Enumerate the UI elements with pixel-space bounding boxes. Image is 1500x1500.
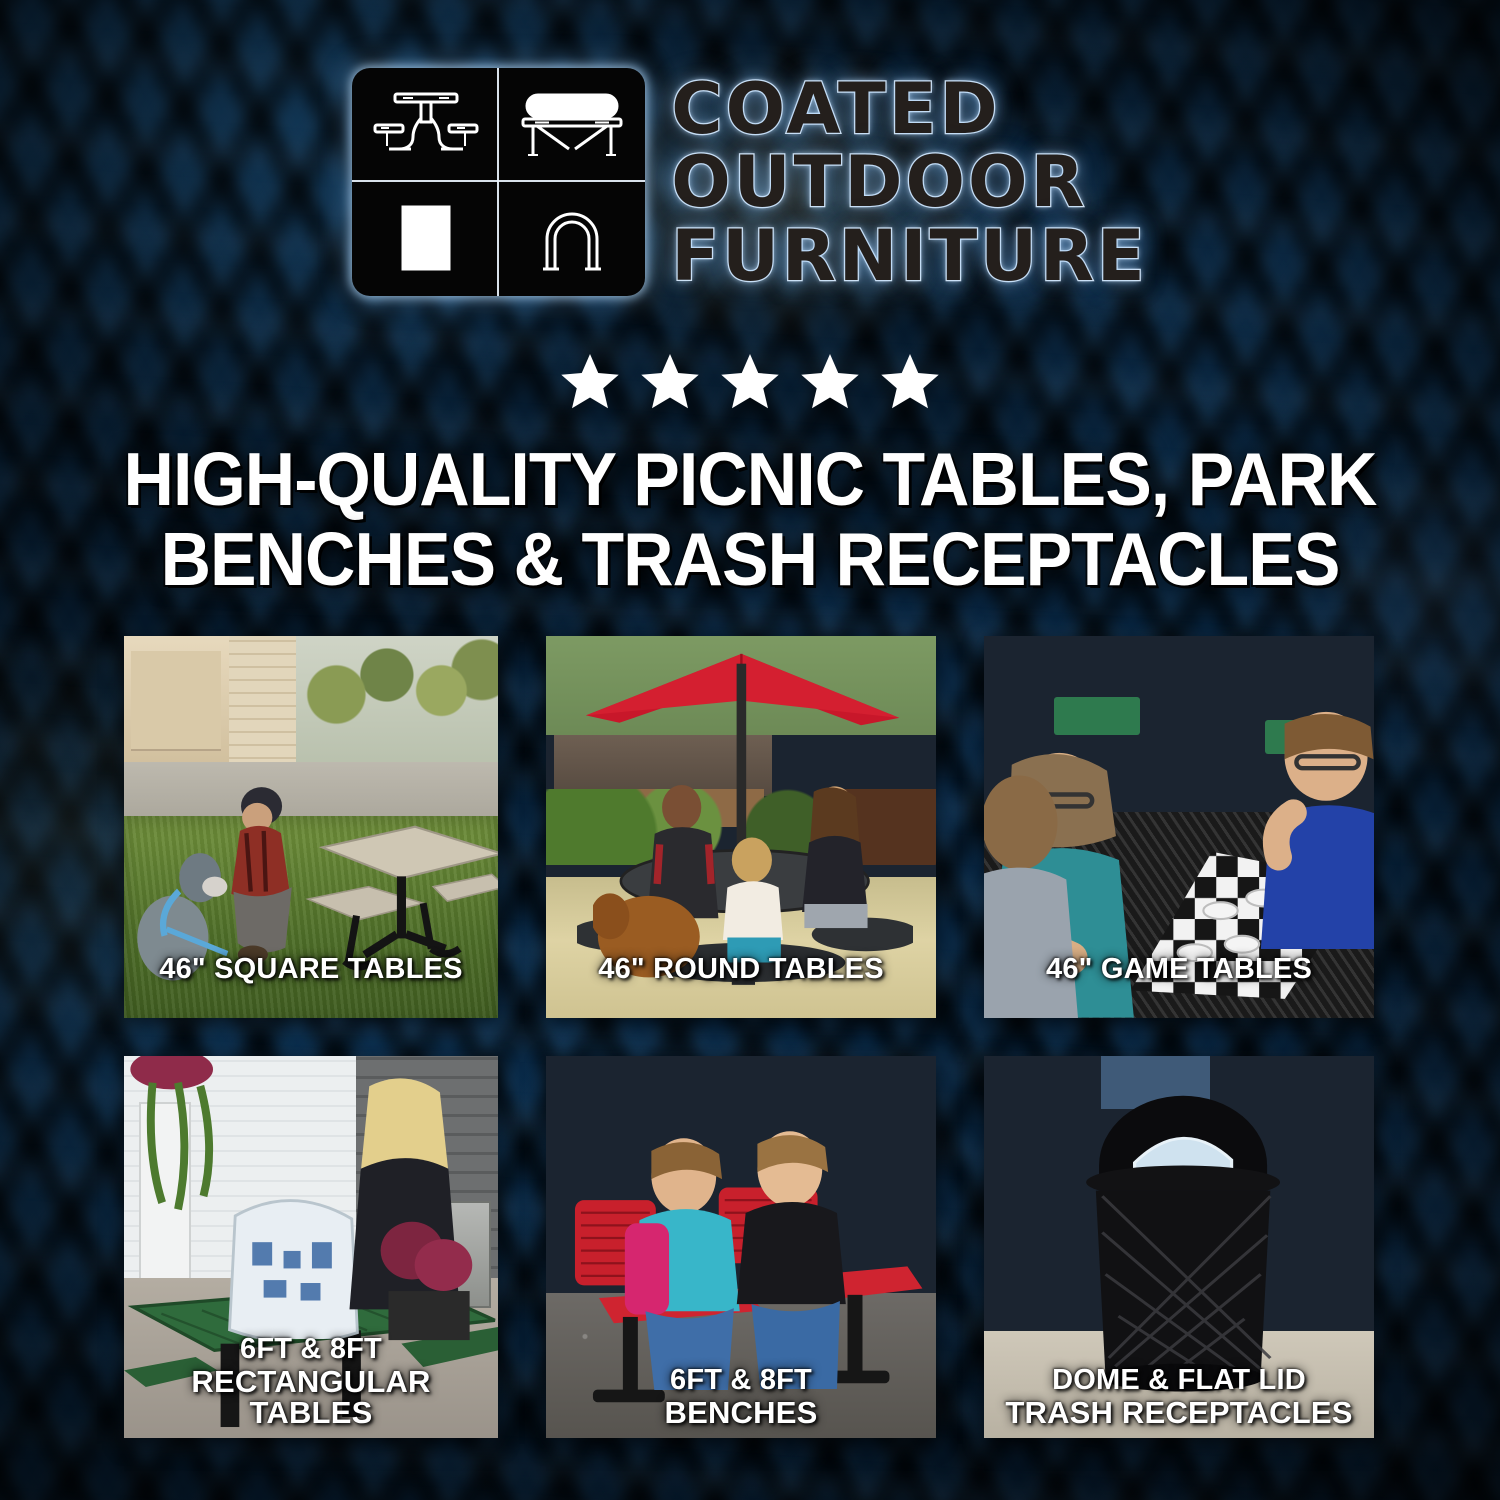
- headline-line-2: BENCHES & TRASH RECEPTACLES: [108, 520, 1391, 600]
- star-icon: [879, 352, 941, 412]
- gallery-tile-square-tables[interactable]: 46" SQUARE TABLES: [124, 636, 498, 1018]
- star-icon: [799, 352, 861, 412]
- logo-mark-grid: [352, 68, 645, 296]
- tile-caption-line-1: 6FT & 8FT: [240, 1333, 382, 1365]
- tile-caption-line-2: TRASH RECEPTACLES: [990, 1397, 1368, 1428]
- person-toddler-graphic: [714, 835, 792, 973]
- gallery-tile-rectangular-tables[interactable]: 6FT & 8FT RECTANGULAR TABLES: [124, 1056, 498, 1438]
- tile-caption-line-2: RECTANGULAR TABLES: [130, 1366, 492, 1428]
- star-icon: [559, 352, 621, 412]
- picnic-table-icon: [352, 68, 499, 182]
- star-icon: [639, 352, 701, 412]
- tile-caption-line-1: 46" SQUARE TABLES: [159, 953, 462, 985]
- tile-caption-line-1: 6FT & 8FT: [670, 1364, 812, 1396]
- flat-lid-trash-can-icon: [352, 182, 499, 296]
- tile-caption-line-2: BENCHES: [552, 1397, 930, 1428]
- tile-caption: 6FT & 8FT RECTANGULAR TABLES: [124, 1335, 498, 1428]
- gallery-tile-trash-receptacles[interactable]: DOME & FLAT LID TRASH RECEPTACLES: [984, 1056, 1374, 1438]
- person-boy-right-graphic: [725, 1125, 858, 1400]
- flower-pot-graphic: [378, 1216, 483, 1346]
- person-boy-graphic: [1249, 697, 1374, 949]
- gallery-tile-game-tables[interactable]: 46" GAME TABLES: [984, 636, 1374, 1018]
- headline-line-1: HIGH-QUALITY PICNIC TABLES, PARK: [108, 440, 1391, 520]
- star-rating: [0, 352, 1500, 412]
- tile-caption-line-1: DOME & FLAT LID: [1052, 1364, 1306, 1396]
- gallery-tile-round-tables[interactable]: 46" ROUND TABLES: [546, 636, 936, 1018]
- tile-caption: 6FT & 8FT BENCHES: [546, 1366, 936, 1428]
- tile-caption: 46" SQUARE TABLES: [124, 955, 498, 984]
- logo-line-1: COATED: [671, 74, 1000, 145]
- person-adult-female-graphic: [788, 781, 882, 941]
- logo-line-2: OUTDOOR: [671, 147, 1087, 218]
- tile-caption-line-1: 46" ROUND TABLES: [598, 953, 884, 985]
- logo-line-3: FURNITURE: [671, 221, 1148, 292]
- tile-caption: DOME & FLAT LID TRASH RECEPTACLES: [984, 1366, 1374, 1428]
- brand-logo: COATED OUTDOOR FURNITURE: [0, 68, 1500, 296]
- tile-caption: 46" ROUND TABLES: [546, 955, 936, 984]
- dome-lid-trash-receptacle-graphic: [1070, 1079, 1296, 1400]
- logo-wordmark: COATED OUTDOOR FURNITURE: [671, 72, 1148, 292]
- page-title: HIGH-QUALITY PICNIC TABLES, PARK BENCHES…: [108, 440, 1391, 599]
- product-gallery: 46" SQUARE TABLES: [124, 636, 1382, 1438]
- star-icon: [719, 352, 781, 412]
- bench-icon: [499, 68, 646, 182]
- tile-caption-line-1: 46" GAME TABLES: [1046, 953, 1312, 985]
- gallery-tile-benches[interactable]: 6FT & 8FT BENCHES: [546, 1056, 936, 1438]
- dome-lid-trash-can-icon: [499, 182, 646, 296]
- tile-caption: 46" GAME TABLES: [984, 955, 1374, 984]
